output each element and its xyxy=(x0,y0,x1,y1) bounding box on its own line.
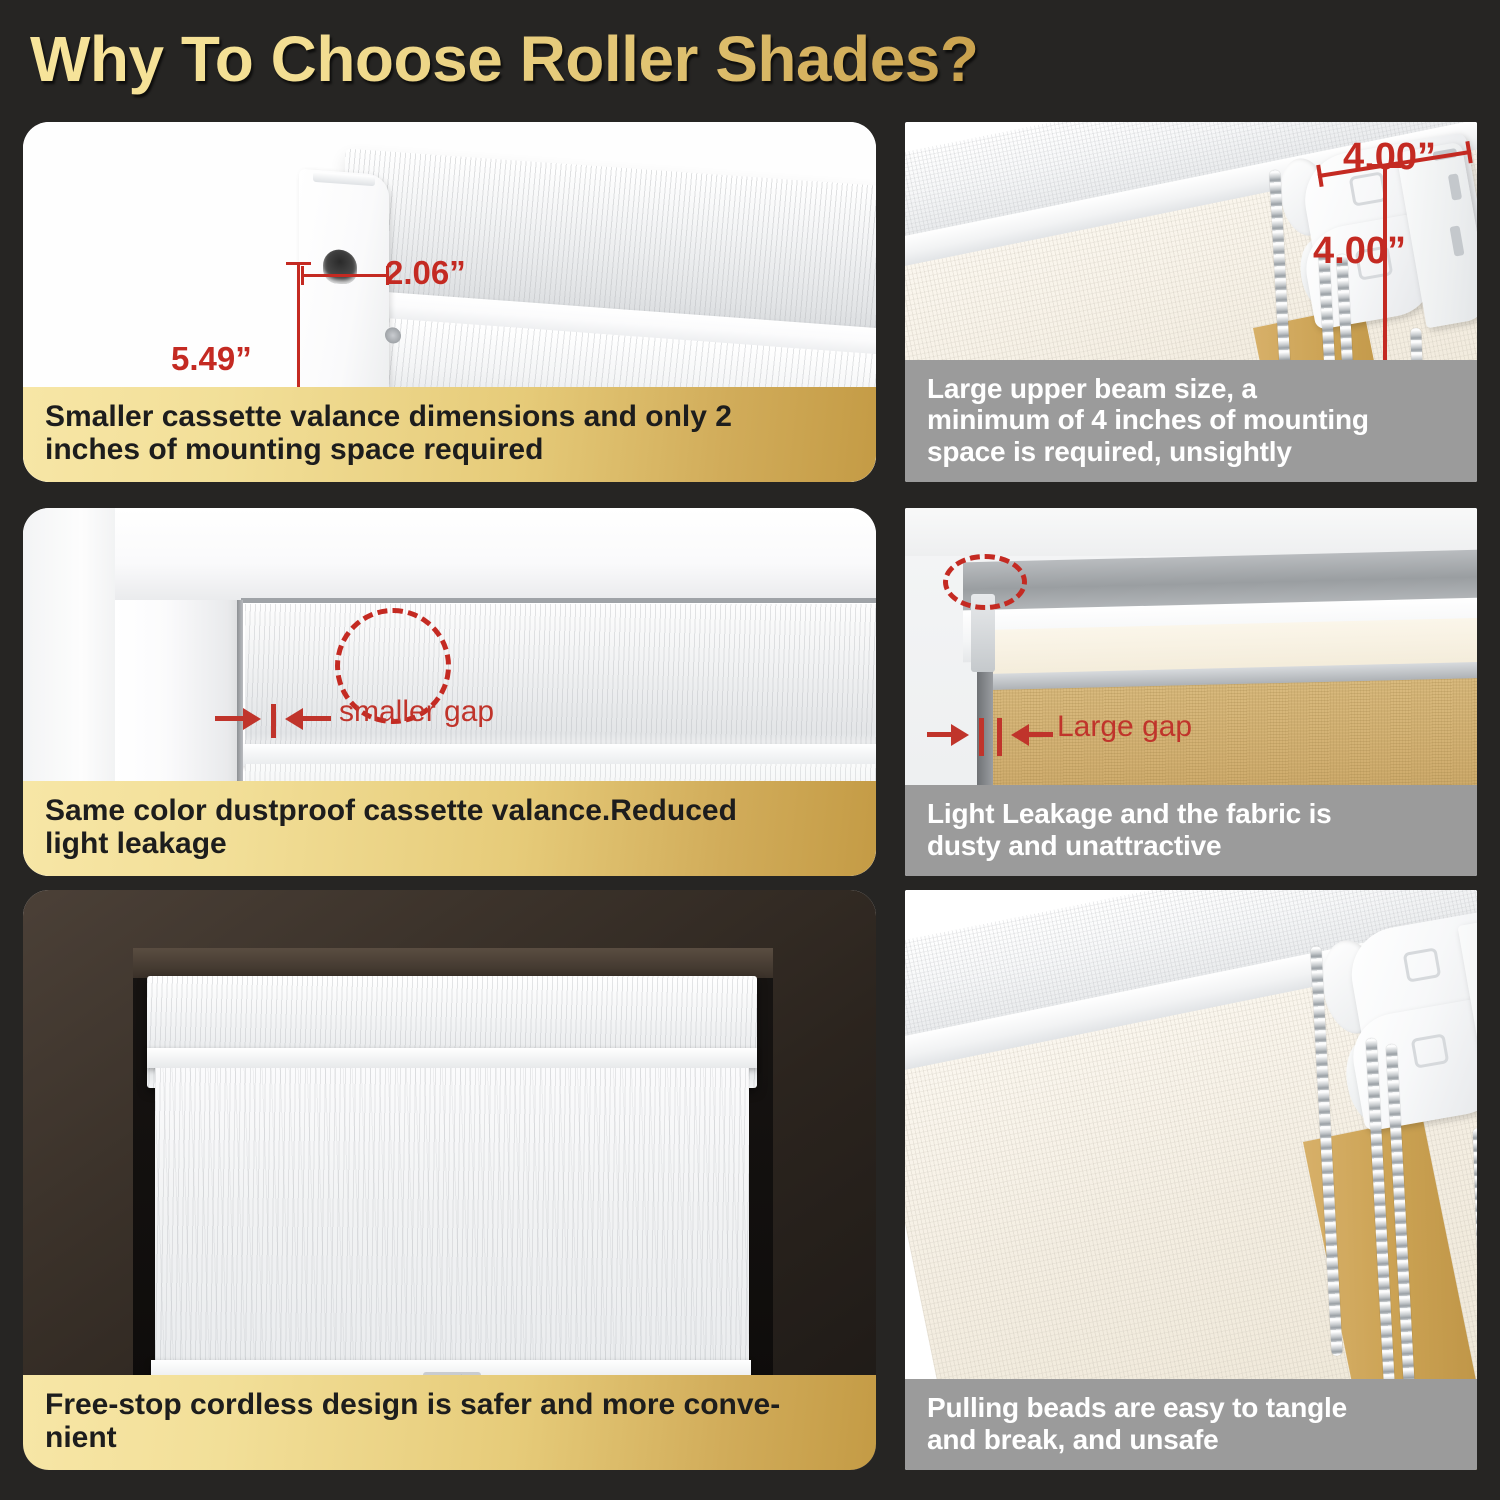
caption-line: and break, and unsafe xyxy=(927,1424,1459,1455)
endcap-top-tab xyxy=(313,172,375,186)
caption-line: light leakage xyxy=(45,827,858,861)
arrow-shaft-right xyxy=(1027,732,1053,737)
panel-5-caption: Free-stop cordless design is safer and m… xyxy=(23,1375,876,1470)
panel-light-leakage: Large gap Light Leakage and the fabric i… xyxy=(905,508,1477,876)
arrow-shaft-left xyxy=(927,732,953,737)
caption-line: Free-stop cordless design is safer and m… xyxy=(45,1388,858,1422)
panel-cordless-design: Free-stop cordless design is safer and m… xyxy=(23,890,876,1470)
panel-4-caption: Light Leakage and the fabric is dusty an… xyxy=(905,785,1477,876)
window-frame-top xyxy=(115,508,876,600)
bracket-emboss-icon xyxy=(1411,1033,1450,1068)
cassette-top-seam xyxy=(241,598,876,603)
arrow-head-right-icon xyxy=(243,708,261,730)
bracket-emboss-icon xyxy=(1403,947,1442,982)
arrow-head-right-icon xyxy=(951,724,969,746)
endcap-screw-icon xyxy=(385,327,401,344)
endcap-slot-icon xyxy=(323,249,357,285)
caption-line: nient xyxy=(45,1421,858,1455)
highlight-circle-icon xyxy=(943,554,1027,610)
panel-3-caption: Same color dustproof cassette valance.Re… xyxy=(23,781,876,876)
caption-line: Light Leakage and the fabric is xyxy=(927,798,1459,829)
caption-line: Large upper beam size, a xyxy=(927,373,1459,404)
wall-band xyxy=(905,508,1477,556)
gap-tick xyxy=(271,704,276,738)
panel-1-caption: Smaller cassette valance dimensions and … xyxy=(23,387,876,482)
caption-line: Pulling beads are easy to tangle xyxy=(927,1392,1459,1423)
gap-tick xyxy=(979,718,984,756)
width-dimension-line xyxy=(301,274,389,277)
panel-2-caption: Large upper beam size, a minimum of 4 in… xyxy=(905,360,1477,482)
caption-line: inches of mounting space required xyxy=(45,433,858,467)
page-title: Why To Choose Roller Shades? xyxy=(30,22,978,96)
caption-line: space is required, unsightly xyxy=(927,436,1459,467)
panel-pulling-beads: Pulling beads are easy to tangle and bre… xyxy=(905,890,1477,1470)
shade-fabric xyxy=(155,1068,749,1366)
cassette-lip xyxy=(147,1048,757,1068)
panel-dustproof-cassette: smaller gap Same color dustproof cassett… xyxy=(23,508,876,876)
shade-mid-rail xyxy=(241,744,876,766)
caption-line: dusty and unattractive xyxy=(927,830,1459,861)
infographic-root: Why To Choose Roller Shades? 2.06” 5.49”… xyxy=(0,0,1500,1500)
height-dimension-label: 4.00” xyxy=(1313,230,1406,273)
arrow-shaft-left xyxy=(215,716,245,721)
large-gap-label: Large gap xyxy=(1057,710,1192,744)
smaller-gap-label: smaller gap xyxy=(339,695,494,729)
panel-smaller-cassette: 2.06” 5.49” Smaller cassette valance dim… xyxy=(23,122,876,482)
gap-tick xyxy=(997,718,1002,756)
window-recess-header xyxy=(133,948,773,978)
caption-line: Same color dustproof cassette valance.Re… xyxy=(45,794,858,828)
panel-large-upper-beam: 4.00” 4.00” Large upper beam size, a min… xyxy=(905,122,1477,482)
width-dimension-label: 4.00” xyxy=(1343,136,1436,179)
caption-line: Smaller cassette valance dimensions and … xyxy=(45,400,858,434)
height-dimension-label: 5.49” xyxy=(171,340,252,378)
caption-line: minimum of 4 inches of mounting xyxy=(927,404,1459,435)
arrow-shaft-right xyxy=(301,716,331,721)
panel-6-caption: Pulling beads are easy to tangle and bre… xyxy=(905,1379,1477,1470)
width-dimension-label: 2.06” xyxy=(385,254,466,292)
